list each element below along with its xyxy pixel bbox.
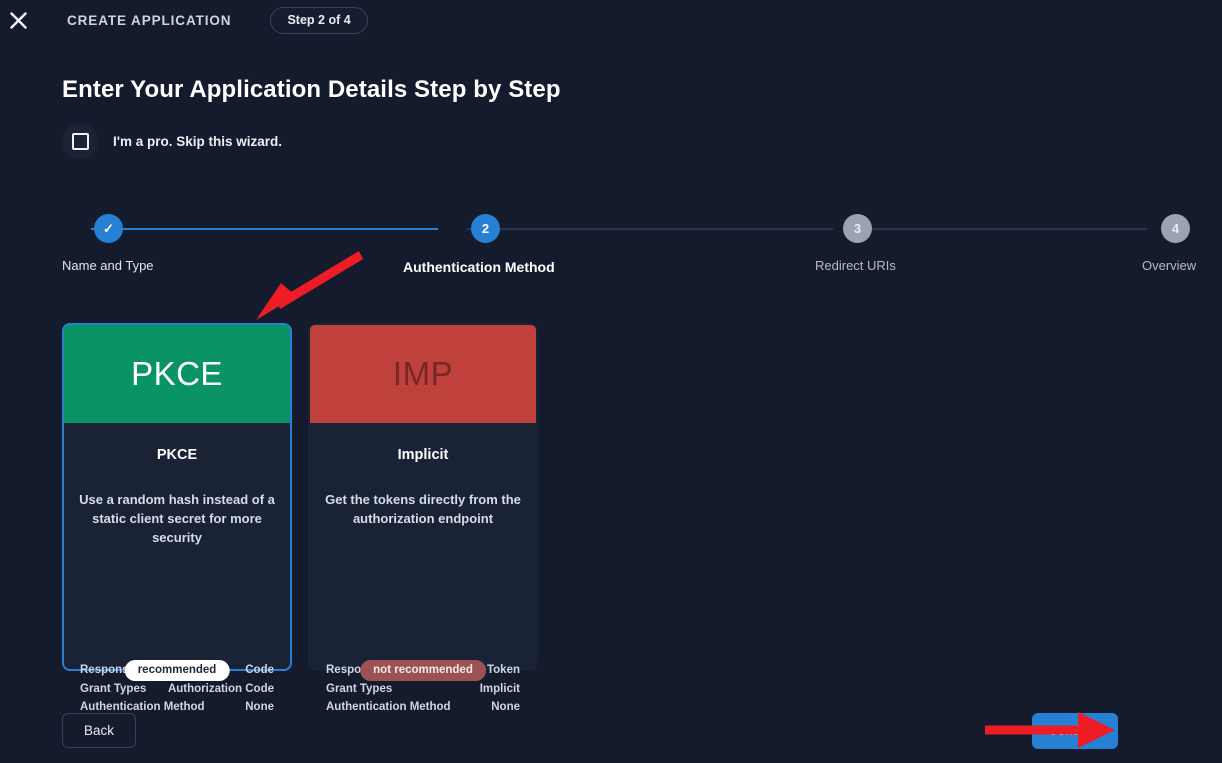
stepper-label-2: Authentication Method	[403, 259, 555, 275]
step-badge: Step 2 of 4	[270, 7, 367, 34]
stepper-node-1[interactable]: ✓	[94, 214, 123, 243]
stepper-node-3-number: 3	[854, 221, 861, 236]
attr-key: Grant Types	[80, 680, 146, 699]
attr-value: Implicit	[480, 680, 520, 699]
implicit-card-header: IMP	[310, 325, 536, 423]
attr-value: None	[245, 698, 274, 717]
top-bar: CREATE APPLICATION Step 2 of 4	[0, 0, 1222, 40]
stepper-node-2[interactable]: 2	[471, 214, 500, 243]
attr-value: Authorization Code	[168, 680, 274, 699]
close-icon[interactable]	[4, 6, 32, 34]
stepper-node-4-number: 4	[1172, 221, 1179, 236]
skip-wizard-checkbox[interactable]	[72, 133, 89, 150]
stepper-label-4: Overview	[1142, 258, 1196, 273]
attr-row: Authentication Method None	[326, 698, 520, 717]
check-icon: ✓	[103, 221, 114, 237]
page-title: CREATE APPLICATION	[67, 13, 231, 28]
stepper-track	[62, 228, 1190, 230]
pkce-card-title: PKCE	[78, 447, 276, 463]
attr-row: Grant Types Implicit	[326, 680, 520, 699]
stepper-segment-3	[862, 228, 1147, 230]
pkce-card-description: Use a random hash instead of a static cl…	[78, 490, 276, 547]
attr-value: None	[491, 698, 520, 717]
implicit-card-title: Implicit	[324, 447, 522, 463]
stepper-segment-1	[91, 228, 438, 230]
back-button[interactable]: Back	[62, 713, 136, 748]
stepper-node-3[interactable]: 3	[843, 214, 872, 243]
stepper-label-3: Redirect URIs	[815, 258, 896, 273]
stepper-node-4[interactable]: 4	[1161, 214, 1190, 243]
stepper-node-2-number: 2	[482, 221, 489, 236]
implicit-card-body: Implicit Get the tokens directly from th…	[310, 423, 536, 669]
headline: Enter Your Application Details Step by S…	[62, 76, 561, 104]
checkbox-ripple	[62, 123, 98, 159]
skip-wizard-checkbox-row[interactable]: I'm a pro. Skip this wizard.	[62, 123, 282, 159]
stepper-segment-2	[467, 228, 833, 230]
create-application-wizard: CREATE APPLICATION Step 2 of 4 Enter You…	[0, 0, 1222, 763]
attr-key: Authentication Method	[326, 698, 451, 717]
continue-button[interactable]: Continue	[1032, 713, 1118, 749]
pkce-card[interactable]: PKCE PKCE Use a random hash instead of a…	[62, 323, 292, 671]
skip-wizard-label: I'm a pro. Skip this wizard.	[113, 134, 282, 149]
pkce-card-body: PKCE Use a random hash instead of a stat…	[64, 423, 290, 669]
wizard-stepper: ✓ Name and Type 2 Authentication Method …	[62, 214, 1190, 284]
attr-value: Code	[245, 661, 274, 680]
implicit-not-recommended-badge: not recommended	[360, 660, 486, 681]
attr-key: Grant Types	[326, 680, 392, 699]
pkce-recommended-badge: recommended	[125, 660, 230, 681]
implicit-card[interactable]: IMP Implicit Get the tokens directly fro…	[308, 323, 538, 671]
stepper-label-1: Name and Type	[62, 258, 154, 273]
attr-row: Grant Types Authorization Code	[80, 680, 274, 699]
pkce-card-header: PKCE	[64, 325, 290, 423]
implicit-card-description: Get the tokens directly from the authori…	[324, 490, 522, 528]
